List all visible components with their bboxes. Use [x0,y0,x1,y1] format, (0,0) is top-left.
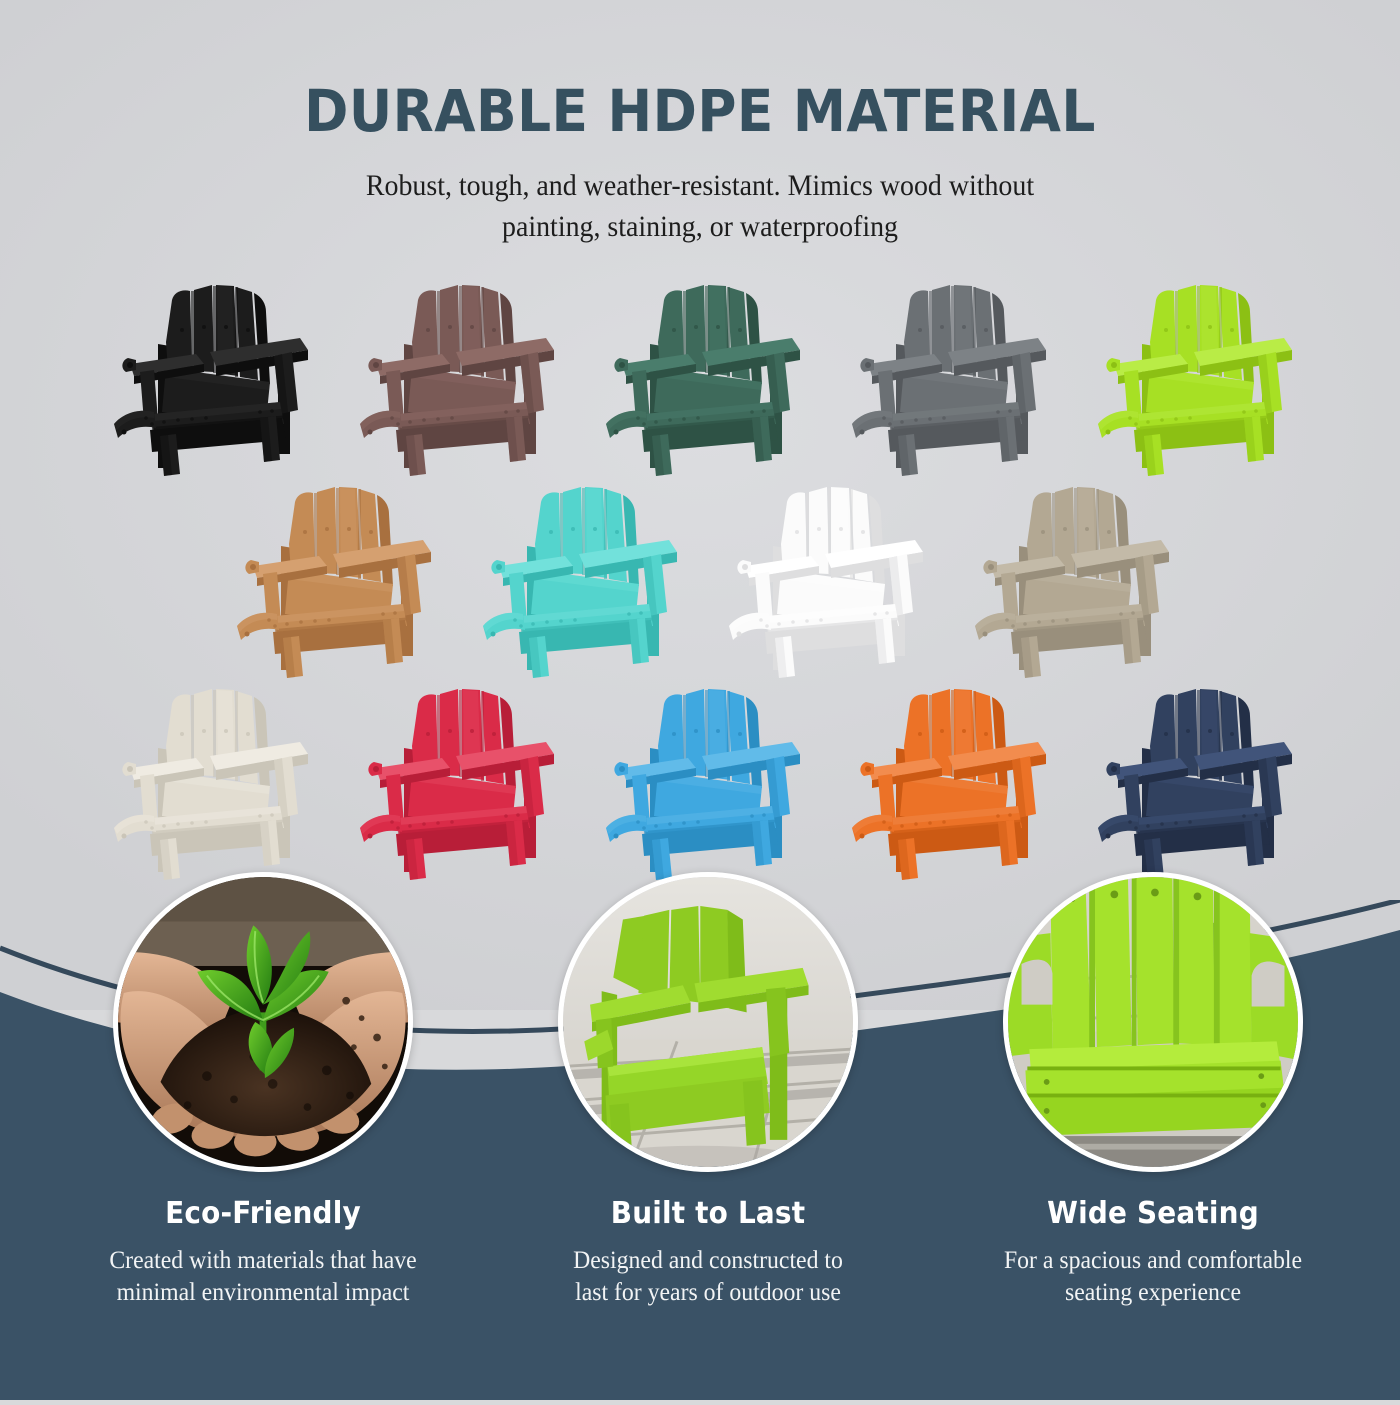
page-title: DURABLE HDPE MATERIAL [56,0,1344,140]
feature-text-wide-seating: Wide Seating For a spacious and comforta… [923,1196,1383,1309]
subtitle-line-2: painting, staining, or waterproofing [49,207,1351,248]
feature-body-line-1: For a spacious and comfortable [935,1245,1372,1277]
feature-body-line-2: seating experience [935,1277,1372,1309]
chair-orange [838,676,1054,881]
chair-turquoise [469,474,685,679]
chair-gray [838,272,1054,477]
lime-chair-on-patio-photo [563,877,853,1167]
chair-dark-green [592,272,808,477]
chair-beige [961,474,1177,679]
feature-heading: Wide Seating [939,1196,1367,1231]
feature-text-built-to-last: Built to Last Designed and constructed t… [478,1196,938,1309]
chair-row-1 [0,272,1400,477]
chair-row-2 [0,474,1400,679]
chair-row-3 [0,676,1400,881]
chair-teak [223,474,439,679]
chair-white [715,474,931,679]
page-subtitle: Robust, tough, and weather-resistant. Mi… [49,140,1351,247]
feature-body-line-2: last for years of outdoor use [490,1277,927,1309]
feature-body-line-2: minimal environmental impact [45,1277,482,1309]
feature-body: For a spacious and comfortable seating e… [935,1245,1372,1309]
lime-chair-wide-seat-closeup-photo [1008,877,1298,1167]
feature-body-line-1: Created with materials that have [45,1245,482,1277]
feature-body: Designed and constructed to last for yea… [490,1245,927,1309]
feature-heading: Eco-Friendly [49,1196,477,1231]
chair-lime [1084,272,1300,477]
chair-sky-blue [592,676,808,881]
hands-holding-seedling-photo [118,877,408,1167]
chair-ivory [100,676,316,881]
feature-photo-eco-friendly [113,872,413,1172]
chair-red [346,676,562,881]
feature-body: Created with materials that have minimal… [45,1245,482,1309]
chair-navy [1084,676,1300,881]
feature-body-line-1: Designed and constructed to [490,1245,927,1277]
feature-photo-built-to-last [558,872,858,1172]
chair-brown [346,272,562,477]
feature-heading: Built to Last [494,1196,922,1231]
subtitle-line-1: Robust, tough, and weather-resistant. Mi… [49,166,1351,207]
header: DURABLE HDPE MATERIAL Robust, tough, and… [0,0,1400,247]
feature-text-eco-friendly: Eco-Friendly Created with materials that… [33,1196,493,1309]
feature-photo-wide-seating [1003,872,1303,1172]
chair-black [100,272,316,477]
